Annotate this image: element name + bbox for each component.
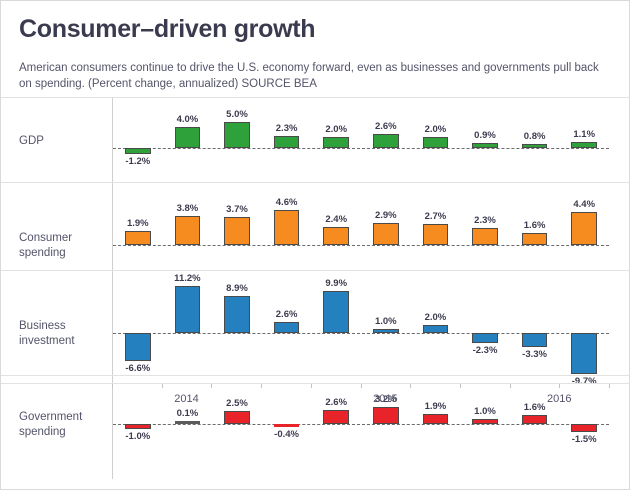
bar[interactable]	[423, 137, 449, 148]
bar-value-label: -1.2%	[125, 156, 150, 167]
bar-value-label: 9.9%	[325, 278, 347, 289]
bar-value-label: -1.0%	[125, 431, 150, 442]
chart-row-consumer-spending: Consumer spending1.9%3.8%3.7%4.6%2.4%2.9…	[1, 182, 630, 270]
bar-value-label: 2.3%	[276, 123, 298, 134]
x-tick-label: 2015	[373, 393, 397, 405]
bar-value-label: -1.5%	[572, 434, 597, 445]
bar-value-label: 0.9%	[474, 130, 496, 141]
bar-value-label: 1.0%	[375, 316, 397, 327]
bar[interactable]	[274, 424, 300, 427]
bar-value-label: 2.6%	[375, 121, 397, 132]
bar[interactable]	[125, 333, 151, 361]
bar-value-label: 8.9%	[226, 283, 248, 294]
chart-header: Consumer–driven growth American consumer…	[1, 1, 629, 93]
bar-value-label: 3.7%	[226, 204, 248, 215]
x-tick-label: 2014	[174, 393, 198, 405]
bar[interactable]	[175, 127, 201, 148]
bar-value-label: 2.0%	[425, 312, 447, 323]
bar[interactable]	[423, 224, 449, 245]
bar-value-label: 2.6%	[276, 309, 298, 320]
bar[interactable]	[224, 296, 250, 333]
bar-value-label: 2.9%	[375, 210, 397, 221]
bar[interactable]	[373, 223, 399, 245]
x-tick-mark	[112, 384, 113, 388]
bar-value-label: 1.6%	[524, 220, 546, 231]
bar[interactable]	[522, 233, 548, 245]
bar-value-label: 4.6%	[276, 197, 298, 208]
bar[interactable]	[175, 216, 201, 245]
bar-value-label: 1.9%	[127, 218, 149, 229]
bar-value-label: 1.1%	[573, 129, 595, 140]
bar[interactable]	[323, 227, 349, 245]
plot-area: -1.2%4.0%5.0%2.3%2.0%2.6%2.0%0.9%0.8%1.1…	[112, 98, 609, 182]
bar[interactable]	[274, 136, 300, 148]
bar-value-label: 3.8%	[177, 203, 199, 214]
x-tick-mark	[162, 384, 163, 388]
bar[interactable]	[571, 212, 597, 245]
bar[interactable]	[323, 137, 349, 148]
bar[interactable]	[571, 142, 597, 148]
chart-container: Consumer–driven growth American consumer…	[0, 0, 630, 490]
x-tick-mark	[361, 384, 362, 388]
bar-value-label: 2.0%	[425, 124, 447, 135]
bar-value-label: -6.6%	[125, 363, 150, 374]
zero-baseline	[113, 148, 609, 149]
chart-row-business-investment: Business investment-6.6%11.2%8.9%2.6%9.9…	[1, 270, 630, 375]
page-title: Consumer–driven growth	[19, 15, 611, 44]
bar-value-label: -3.3%	[522, 349, 547, 360]
chart-row-gdp: GDP-1.2%4.0%5.0%2.3%2.0%2.6%2.0%0.9%0.8%…	[1, 97, 630, 182]
row-label: Business investment	[19, 319, 109, 349]
x-axis: 201420152016	[1, 383, 630, 424]
x-tick-mark	[261, 384, 262, 388]
bar[interactable]	[522, 333, 548, 347]
x-tick-mark	[211, 384, 212, 388]
x-axis-ticks: 201420152016	[112, 384, 609, 424]
bar[interactable]	[125, 148, 151, 154]
bar[interactable]	[175, 286, 201, 333]
bar[interactable]	[323, 291, 349, 333]
bar[interactable]	[472, 228, 498, 245]
bar[interactable]	[571, 424, 597, 432]
bar[interactable]	[522, 144, 548, 148]
x-tick-mark	[510, 384, 511, 388]
bar[interactable]	[472, 333, 498, 343]
bar[interactable]	[125, 231, 151, 245]
plot-area: 1.9%3.8%3.7%4.6%2.4%2.9%2.7%2.3%1.6%4.4%	[112, 183, 609, 270]
x-tick-label: 2016	[547, 393, 571, 405]
chart-subtitle: American consumers continue to drive the…	[19, 60, 609, 93]
bar[interactable]	[571, 333, 597, 374]
row-label: Consumer spending	[19, 231, 109, 261]
bar-value-label: 4.0%	[177, 114, 199, 125]
x-tick-mark	[609, 384, 610, 388]
bar[interactable]	[224, 122, 250, 149]
bar-value-label: 2.7%	[425, 211, 447, 222]
bar[interactable]	[373, 329, 399, 333]
bar[interactable]	[274, 210, 300, 245]
bar-value-label: 11.2%	[174, 273, 200, 284]
x-tick-mark	[460, 384, 461, 388]
bar[interactable]	[274, 322, 300, 333]
bar[interactable]	[373, 134, 399, 148]
bar-value-label: 2.4%	[325, 214, 347, 225]
bar-value-label: -0.4%	[274, 429, 299, 440]
bar-value-label: 2.0%	[325, 124, 347, 135]
row-label: GDP	[19, 134, 109, 149]
bar-value-label: 2.3%	[474, 215, 496, 226]
bar[interactable]	[472, 143, 498, 148]
zero-baseline	[113, 245, 609, 246]
plot-area: -6.6%11.2%8.9%2.6%9.9%1.0%2.0%-2.3%-3.3%…	[112, 271, 609, 375]
x-tick-mark	[410, 384, 411, 388]
bar-value-label: -2.3%	[473, 345, 498, 356]
x-tick-mark	[559, 384, 560, 388]
bar-value-label: 5.0%	[226, 109, 248, 120]
x-tick-mark	[311, 384, 312, 388]
bar-value-label: 4.4%	[573, 199, 595, 210]
bar[interactable]	[125, 424, 151, 429]
bar-value-label: 0.8%	[524, 131, 546, 142]
bar[interactable]	[224, 217, 250, 245]
zero-baseline	[113, 424, 609, 425]
bar[interactable]	[423, 325, 449, 333]
